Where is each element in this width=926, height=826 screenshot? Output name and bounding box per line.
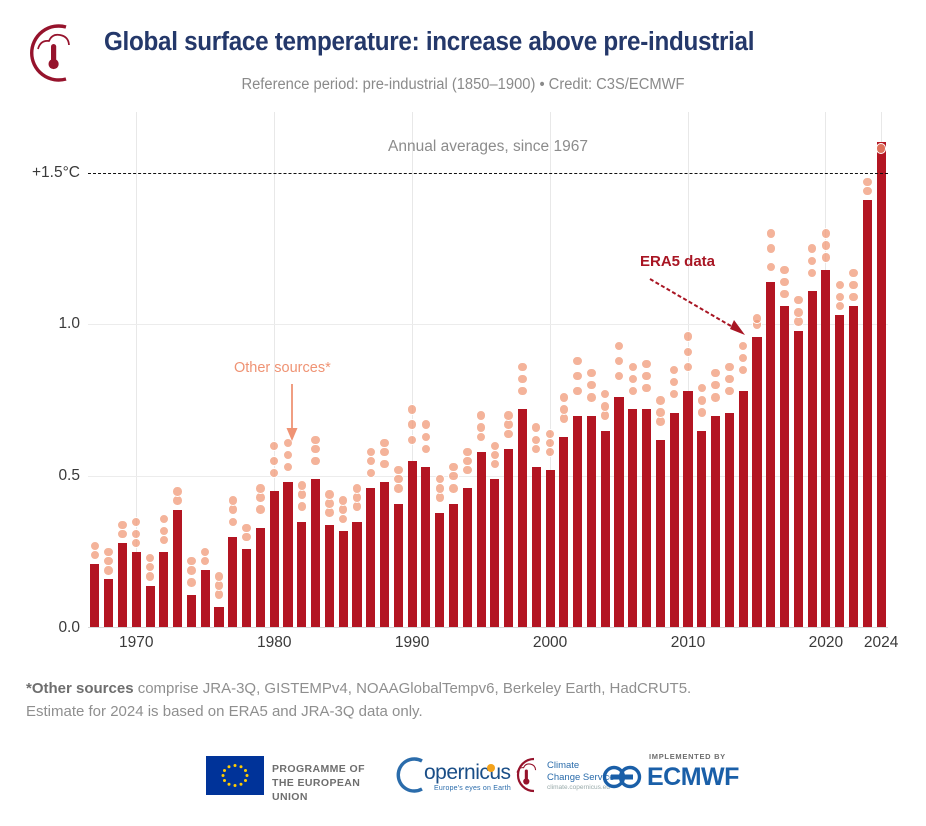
dot-2019-0 — [807, 268, 817, 278]
dot-2020-1 — [821, 240, 831, 250]
dot-1984-2 — [324, 489, 334, 499]
dot-2008-2 — [655, 395, 665, 405]
x-tick-label-2000: 2000 — [533, 634, 567, 652]
dot-1976-1 — [214, 580, 224, 590]
bar-1996 — [490, 479, 499, 628]
dot-2012-1 — [710, 380, 720, 390]
bar-2004 — [601, 431, 610, 628]
dot-2008-1 — [655, 407, 665, 417]
annotation-era5: ERA5 data — [640, 253, 715, 270]
dot-2000-1 — [545, 438, 555, 448]
dot-2014-1 — [738, 353, 748, 363]
dot-2001-0 — [559, 413, 569, 423]
dot-2002-1 — [572, 371, 582, 381]
annotation-era5-arrow — [644, 275, 756, 343]
eu-flag-icon — [206, 756, 264, 795]
dot-2000-0 — [545, 447, 555, 457]
x-tick-label-2024: 2024 — [864, 634, 898, 652]
dot-2009-2 — [669, 365, 679, 375]
dot-2023-1 — [862, 177, 872, 187]
dot-1968-2 — [103, 547, 113, 557]
bar-2007 — [642, 409, 651, 628]
dot-1990-1 — [407, 419, 417, 429]
dot-2020-2 — [821, 228, 831, 238]
dot-1982-1 — [297, 489, 307, 499]
bar-1987 — [366, 488, 375, 628]
dot-2005-0 — [614, 371, 624, 381]
dot-1967-1 — [90, 541, 100, 551]
dot-1998-1 — [517, 374, 527, 384]
bar-1977 — [228, 537, 237, 628]
dot-2003-1 — [586, 380, 596, 390]
dot-1992-0 — [435, 492, 445, 502]
dot-1995-0 — [476, 432, 486, 442]
bar-1994 — [463, 488, 472, 628]
bar-1988 — [380, 482, 389, 628]
dot-1990-2 — [407, 404, 417, 414]
bar-1973 — [173, 510, 182, 628]
dot-1982-2 — [297, 480, 307, 490]
ecmwf-logo: IMPLEMENTED BY ECMWF — [601, 752, 741, 798]
dot-1993-1 — [448, 471, 458, 481]
y-tick-label-1.0: 1.0 — [2, 315, 80, 333]
dot-1986-0 — [352, 501, 362, 511]
dot-1971-0 — [145, 571, 155, 581]
bar-1970 — [132, 552, 141, 628]
footnote: *Other sources comprise JRA-3Q, GISTEMPv… — [26, 678, 906, 723]
bar-2005 — [614, 397, 623, 628]
dot-1981-1 — [283, 450, 293, 460]
dot-1980-1 — [269, 456, 279, 466]
dot-1967-0 — [90, 550, 100, 560]
dot-1983-0 — [310, 456, 320, 466]
bar-2022 — [849, 306, 858, 628]
ecmwf-wordmark: ECMWF — [647, 763, 739, 792]
bar-1992 — [435, 513, 444, 628]
dot-1994-1 — [462, 456, 472, 466]
y-tick-label-0.0: 0.0 — [2, 619, 80, 637]
dot-2012-0 — [710, 392, 720, 402]
dot-1972-1 — [159, 526, 169, 536]
copernicus-dot-icon — [487, 764, 495, 772]
bar-1983 — [311, 479, 320, 628]
page-title: Global surface temperature: increase abo… — [104, 28, 864, 57]
dot-1969-1 — [117, 520, 127, 530]
eu-logo-line2: THE EUROPEAN UNION — [272, 776, 376, 804]
dot-1983-2 — [310, 435, 320, 445]
dot-2022-0 — [848, 292, 858, 302]
logo-bar: PROGRAMME OF THE EUROPEAN UNION opernicu… — [0, 752, 926, 804]
dot-1997-2 — [503, 410, 513, 420]
dot-1968-0 — [103, 565, 113, 575]
dot-2011-1 — [697, 395, 707, 405]
eu-logo-line1: PROGRAMME OF — [272, 762, 376, 776]
bar-2001 — [559, 437, 568, 628]
dot-2021-0 — [835, 301, 845, 311]
dot-1994-0 — [462, 465, 472, 475]
dot-1979-2 — [255, 483, 265, 493]
dot-2011-2 — [697, 383, 707, 393]
bar-2002 — [573, 416, 582, 628]
dot-1995-1 — [476, 422, 486, 432]
bar-2017 — [780, 306, 789, 628]
dot-2013-1 — [724, 374, 734, 384]
dot-2003-2 — [586, 368, 596, 378]
dot-1978-1 — [241, 523, 251, 533]
dot-1976-0 — [214, 589, 224, 599]
dot-1998-2 — [517, 362, 527, 372]
dot-1974-0 — [186, 577, 196, 587]
dot-2004-0 — [600, 410, 610, 420]
vertical-gridline-1970 — [136, 112, 137, 628]
bar-1975 — [201, 570, 210, 628]
bar-2000 — [546, 470, 555, 628]
dot-2018-2 — [793, 295, 803, 305]
bar-1980 — [270, 491, 279, 628]
bar-1981 — [283, 482, 292, 628]
bar-2019 — [808, 291, 817, 628]
bar-2012 — [711, 416, 720, 628]
bar-1978 — [242, 549, 251, 628]
dot-1995-2 — [476, 410, 486, 420]
bar-1991 — [421, 467, 430, 628]
dot-1977-0 — [228, 517, 238, 527]
dot-2003-0 — [586, 392, 596, 402]
eu-logo: PROGRAMME OF THE EUROPEAN UNION — [206, 752, 376, 798]
y-tick-label-0.5: 0.5 — [2, 467, 80, 485]
dot-1983-1 — [310, 444, 320, 454]
y-axis-labels: 0.00.51.0+1.5°C — [0, 112, 80, 628]
dot-1970-1 — [131, 529, 141, 539]
bar-1993 — [449, 504, 458, 628]
bar-2009 — [670, 413, 679, 629]
dot-1975-1 — [200, 547, 210, 557]
bar-1979 — [256, 528, 265, 628]
dot-1974-2 — [186, 556, 196, 566]
dot-1992-1 — [435, 483, 445, 493]
dot-1979-1 — [255, 492, 265, 502]
dot-1996-2 — [490, 441, 500, 451]
bar-1995 — [477, 452, 486, 628]
dot-2006-2 — [628, 362, 638, 372]
x-axis-labels: 1970198019902000201020202024 — [88, 634, 888, 658]
dot-2005-1 — [614, 356, 624, 366]
bar-1974 — [187, 595, 196, 628]
dot-2017-0 — [779, 289, 789, 299]
dot-1969-0 — [117, 529, 127, 539]
dot-2007-2 — [641, 359, 651, 369]
dot-1997-0 — [503, 429, 513, 439]
bar-1976 — [214, 607, 223, 628]
bar-1971 — [146, 586, 155, 628]
dot-2005-2 — [614, 341, 624, 351]
dot-1985-1 — [338, 504, 348, 514]
dot-1977-2 — [228, 495, 238, 505]
bar-2003 — [587, 416, 596, 628]
dot-2016-0 — [766, 262, 776, 272]
annotation-other-sources: Other sources* — [234, 360, 331, 376]
dot-1996-1 — [490, 450, 500, 460]
dot-1972-2 — [159, 514, 169, 524]
c3s-cloud-thermometer-icon — [505, 755, 545, 795]
dot-1973-1 — [172, 486, 182, 496]
dot-2017-1 — [779, 277, 789, 287]
dot-1970-0 — [131, 538, 141, 548]
bar-2006 — [628, 409, 637, 628]
dot-1999-0 — [531, 444, 541, 454]
ecmwf-mark-icon — [601, 764, 645, 790]
dot-2020-0 — [821, 252, 831, 262]
dot-1985-2 — [338, 495, 348, 505]
dot-1991-0 — [421, 444, 431, 454]
bar-2008 — [656, 440, 665, 628]
dot-1998-0 — [517, 386, 527, 396]
bar-1984 — [325, 525, 334, 628]
bar-2011 — [697, 431, 706, 628]
dot-2022-2 — [848, 268, 858, 278]
footnote-line1: comprise JRA-3Q, GISTEMPv4, NOAAGlobalTe… — [134, 680, 692, 697]
dot-2014-0 — [738, 365, 748, 375]
dot-2000-2 — [545, 429, 555, 439]
dot-1975-0 — [200, 556, 210, 566]
dot-1988-0 — [379, 459, 389, 469]
dot-1997-1 — [503, 419, 513, 429]
dot-1968-1 — [103, 556, 113, 566]
chart-plot-area: Annual averages, since 1967 Other source… — [88, 112, 888, 628]
bar-2021 — [835, 315, 844, 628]
x-tick-label-2010: 2010 — [671, 634, 705, 652]
bar-1998 — [518, 409, 527, 628]
bar-2014 — [739, 391, 748, 628]
dot-2022-1 — [848, 280, 858, 290]
x-axis-line — [88, 627, 888, 628]
footnote-bold-lead: *Other sources — [26, 680, 134, 697]
bar-1986 — [352, 522, 361, 628]
dot-1977-1 — [228, 504, 238, 514]
ecmwf-implemented-by-label: IMPLEMENTED BY — [649, 752, 726, 761]
dot-1991-2 — [421, 419, 431, 429]
x-tick-label-1970: 1970 — [119, 634, 153, 652]
dot-2023-0 — [862, 186, 872, 196]
copernicus-wordmark: opernicus — [424, 761, 511, 785]
dot-1978-0 — [241, 532, 251, 542]
dot-1994-2 — [462, 447, 472, 457]
dot-2013-0 — [724, 386, 734, 396]
copernicus-tagline: Europe's eyes on Earth — [434, 785, 511, 792]
dot-1996-0 — [490, 459, 500, 469]
bar-2013 — [725, 413, 734, 629]
dot-2004-2 — [600, 389, 610, 399]
bar-1990 — [408, 461, 417, 628]
dot-1971-2 — [145, 553, 155, 563]
dot-1984-1 — [324, 498, 334, 508]
dot-2011-0 — [697, 407, 707, 417]
dot-1982-0 — [297, 501, 307, 511]
dot-1989-0 — [393, 483, 403, 493]
dot-2016-2 — [766, 228, 776, 238]
dot-2001-1 — [559, 404, 569, 414]
bar-1967 — [90, 564, 99, 628]
dot-1988-1 — [379, 447, 389, 457]
bar-1985 — [339, 531, 348, 628]
dot-2007-1 — [641, 371, 651, 381]
dot-2001-2 — [559, 392, 569, 402]
dot-2016-1 — [766, 243, 776, 253]
dot-1999-1 — [531, 435, 541, 445]
dot-2009-1 — [669, 377, 679, 387]
bar-1982 — [297, 522, 306, 628]
dot-1970-2 — [131, 517, 141, 527]
bar-1999 — [532, 467, 541, 628]
dot-2018-0 — [793, 316, 803, 326]
dot-1988-2 — [379, 438, 389, 448]
bar-1969 — [118, 543, 127, 628]
dot-1993-2 — [448, 462, 458, 472]
bar-2018 — [794, 331, 803, 628]
dot-1972-0 — [159, 535, 169, 545]
dot-1981-0 — [283, 462, 293, 472]
bar-2024 — [877, 142, 886, 628]
x-tick-label-2020: 2020 — [809, 634, 843, 652]
plot-note: Annual averages, since 1967 — [88, 138, 888, 156]
dot-2006-1 — [628, 374, 638, 384]
dot-1993-0 — [448, 483, 458, 493]
dot-1992-2 — [435, 474, 445, 484]
dot-2006-0 — [628, 386, 638, 396]
dot-2013-2 — [724, 362, 734, 372]
bar-1968 — [104, 579, 113, 628]
dot-2002-2 — [572, 356, 582, 366]
dot-1979-0 — [255, 504, 265, 514]
annotation-other-sources-arrow — [284, 384, 300, 442]
c3s-logo: Climate Change Service climate.copernicu… — [505, 752, 615, 798]
dot-1989-2 — [393, 465, 403, 475]
eu-logo-text: PROGRAMME OF THE EUROPEAN UNION — [272, 762, 376, 805]
x-tick-label-1980: 1980 — [257, 634, 291, 652]
footnote-line2: Estimate for 2024 is based on ERA5 and J… — [26, 701, 906, 724]
dot-1989-1 — [393, 474, 403, 484]
dot-2021-1 — [835, 292, 845, 302]
dot-2008-0 — [655, 416, 665, 426]
dot-1985-0 — [338, 514, 348, 524]
bar-2020 — [821, 270, 830, 628]
dot-2010-1 — [683, 347, 693, 357]
dot-2018-1 — [793, 307, 803, 317]
chart-subtitle: Reference period: pre-industrial (1850–1… — [23, 76, 903, 94]
dot-1980-2 — [269, 441, 279, 451]
dot-2007-0 — [641, 383, 651, 393]
dot-1987-1 — [366, 456, 376, 466]
dot-1973-0 — [172, 495, 182, 505]
dot-1990-0 — [407, 435, 417, 445]
bar-2023 — [863, 200, 872, 628]
bar-1989 — [394, 504, 403, 628]
dot-2009-0 — [669, 389, 679, 399]
bar-2016 — [766, 282, 775, 628]
dot-1986-2 — [352, 483, 362, 493]
dot-2002-0 — [572, 386, 582, 396]
dot-1986-1 — [352, 492, 362, 502]
dot-1987-2 — [366, 447, 376, 457]
dot-1999-2 — [531, 422, 541, 432]
threshold-line-1.5c — [88, 173, 888, 174]
bar-2015 — [752, 337, 761, 628]
dot-1971-1 — [145, 562, 155, 572]
dot-2010-0 — [683, 362, 693, 372]
dot-2017-2 — [779, 265, 789, 275]
y-tick-label-+1.5°C: +1.5°C — [2, 164, 80, 182]
dot-2019-1 — [807, 256, 817, 266]
bar-1972 — [159, 552, 168, 628]
dot-2021-2 — [835, 280, 845, 290]
dot-2019-2 — [807, 243, 817, 253]
dot-1984-0 — [324, 507, 334, 517]
x-tick-label-1990: 1990 — [395, 634, 429, 652]
dot-1991-1 — [421, 432, 431, 442]
dot-1974-1 — [186, 565, 196, 575]
dot-2012-2 — [710, 368, 720, 378]
bar-2010 — [683, 391, 692, 628]
chart-header: Global surface temperature: increase abo… — [0, 0, 926, 110]
dot-1976-2 — [214, 571, 224, 581]
dot-2004-1 — [600, 401, 610, 411]
bar-1997 — [504, 449, 513, 628]
